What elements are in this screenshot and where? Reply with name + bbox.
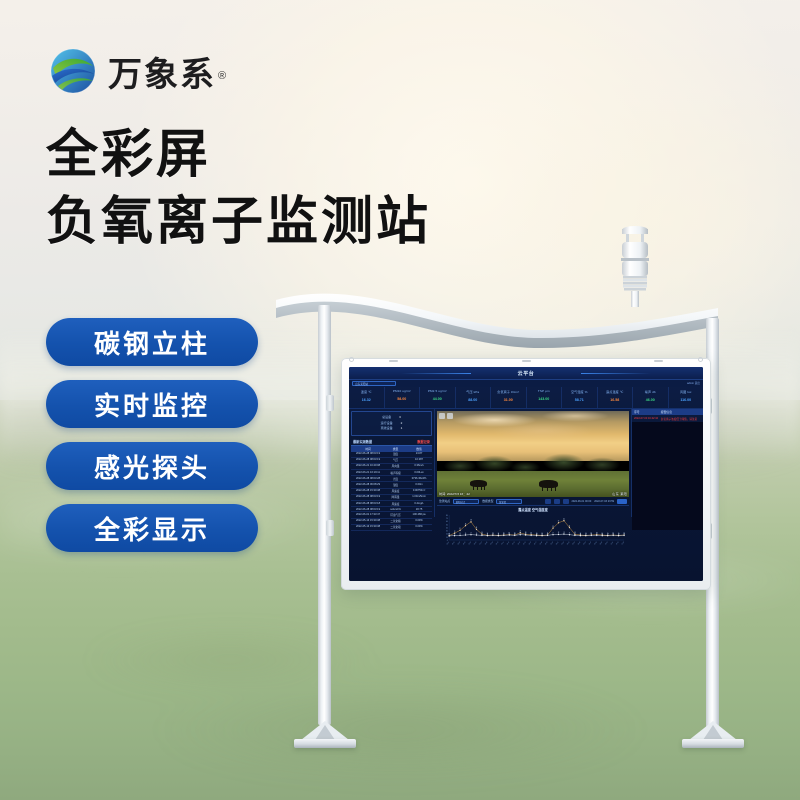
- table-cell: 0.36m/s: [406, 464, 432, 468]
- fullscreen-icon[interactable]: [439, 413, 445, 419]
- chart-view-toggle-2[interactable]: [554, 499, 560, 504]
- table-cell: 气压: [385, 458, 406, 462]
- right-base-plate: [682, 722, 744, 748]
- svg-text:14: 14: [580, 533, 581, 535]
- svg-text:06-09: 06-09: [490, 541, 493, 546]
- cow-figure-left: [470, 480, 487, 487]
- svg-text:07-02: 07-02: [616, 541, 619, 546]
- svg-text:06-30: 06-30: [605, 541, 608, 546]
- alarm-column-message: 报警信息: [661, 410, 701, 414]
- table-cell: 10.387: [406, 458, 432, 462]
- metric-value: 143.00: [527, 397, 562, 401]
- metric-label: 负氧离子 #/cm³: [491, 389, 526, 394]
- table-cell: 2022-06-28 08:03:19: [351, 452, 385, 456]
- metric-value: 58.00: [385, 397, 420, 401]
- svg-text:17: 17: [470, 532, 471, 534]
- table-cell: 18.75: [406, 508, 432, 511]
- metric-value: 58.71: [562, 398, 597, 402]
- svg-text:38: 38: [552, 526, 553, 528]
- metric-value: 44.00: [420, 397, 455, 401]
- svg-text:20: 20: [446, 534, 448, 536]
- table-cell: 0.00Lux: [406, 471, 432, 475]
- table-cell: 二氧化硫: [385, 525, 406, 529]
- svg-text:18: 18: [558, 532, 559, 534]
- metric-pm25: PM2.5 ug/m³ 44.00: [420, 387, 456, 408]
- metric-label: 温度 ℃: [349, 389, 384, 394]
- metric-pm10: PM10 ug/m³ 58.00: [385, 387, 421, 408]
- table-row[interactable]: 2022-05-13 15:30:38二氧化硫0.00%: [351, 525, 432, 531]
- svg-text:62: 62: [563, 518, 564, 520]
- table-cell: 2022-06-28 08:03:19: [351, 495, 385, 499]
- svg-text:06-02: 06-02: [452, 541, 455, 546]
- chart-date-from[interactable]: 2022-06-01 00:00: [572, 500, 592, 503]
- table-cell: 湿度: [385, 483, 406, 487]
- svg-text:06-24: 06-24: [572, 541, 575, 546]
- table-cell: 光度: [385, 477, 406, 481]
- metric-label: 风图 lux: [669, 389, 704, 394]
- chart-filter-bar: 监测站点 莱阳站点 数据类型 温湿度 2022-06-01 00:00 2022…: [437, 497, 629, 506]
- svg-text:06-05: 06-05: [468, 541, 471, 546]
- table-cell: 2022-05-13 15:30:38: [351, 519, 385, 523]
- table-cell: 0736.36e3%: [406, 477, 432, 481]
- table-cell: 2022-06-21 16:40:08: [351, 464, 385, 468]
- cow-figure-right: [539, 480, 558, 488]
- svg-text:06-10: 06-10: [496, 541, 499, 546]
- svg-text:70: 70: [446, 518, 448, 520]
- metric-label: PM2.5 ug/m³: [420, 389, 455, 393]
- cabinet-vent-center: [522, 360, 531, 362]
- table-cell: 温度: [385, 452, 406, 456]
- chart-submit-button[interactable]: [617, 499, 627, 504]
- table-cell: 0.4mg/L: [406, 502, 432, 506]
- svg-text:17: 17: [552, 532, 553, 534]
- svg-text:06-19: 06-19: [545, 541, 548, 546]
- metric-label: 噪声 db: [633, 389, 668, 394]
- dashboard-left-panel: 总设备 3 运行设备 2 离线设备 1: [349, 409, 435, 517]
- dashboard-header: 云平台: [349, 367, 703, 380]
- svg-text:30: 30: [446, 530, 448, 532]
- svg-text:15: 15: [514, 533, 515, 535]
- metric-label: TSP μm: [527, 389, 562, 393]
- stat-label: 离线设备: [381, 426, 393, 432]
- table-cell: 2022-06-21 16:19:11: [351, 471, 385, 475]
- svg-text:15: 15: [481, 533, 482, 535]
- svg-text:0: 0: [447, 540, 448, 542]
- table-cell: 噪声等级: [385, 471, 406, 475]
- metric-noise: 噪声 db 46.00: [633, 387, 669, 408]
- table-cell: 2022-06-01 17:33:47: [351, 513, 385, 517]
- table-cell: 0.00%: [406, 525, 432, 529]
- svg-text:16: 16: [509, 533, 510, 535]
- table-cell: solun/s%: [385, 508, 406, 511]
- chart-filter-label-2: 数据类型: [482, 499, 493, 503]
- table-action-link[interactable]: 数据记录: [417, 439, 430, 444]
- left-base-plate: [294, 722, 356, 748]
- svg-text:17: 17: [520, 532, 521, 534]
- table-cell: 100.286 pa: [406, 513, 432, 517]
- svg-text:06-20: 06-20: [550, 541, 553, 546]
- cloud-platform-dashboard: 云平台 山东莱阳站 admin 退出 温度 ℃ 16.32: [349, 367, 703, 581]
- data-table-body: 2022-06-28 08:03:19温度13.872022-06-28 08:…: [351, 452, 432, 531]
- alarm-empty-area: [632, 422, 703, 530]
- svg-text:40: 40: [569, 525, 570, 527]
- svg-text:14: 14: [536, 533, 537, 535]
- svg-text:15: 15: [591, 533, 592, 535]
- svg-text:17: 17: [569, 532, 570, 534]
- lcd-screen: 云平台 山东莱阳站 admin 退出 温度 ℃ 16.32: [349, 367, 703, 581]
- svg-text:13: 13: [448, 534, 449, 536]
- user-menu[interactable]: admin 退出: [687, 381, 700, 385]
- svg-text:16: 16: [465, 533, 466, 535]
- svg-text:15: 15: [547, 533, 548, 535]
- device-stats-box: 总设备 3 运行设备 2 离线设备 1: [351, 411, 432, 436]
- svg-text:31: 31: [459, 528, 460, 530]
- svg-text:14: 14: [487, 533, 488, 535]
- chart-station-select[interactable]: 莱阳站点: [453, 499, 479, 504]
- cabinet-hole-right: [698, 357, 703, 362]
- svg-text:06-14: 06-14: [517, 541, 520, 546]
- svg-text:10: 10: [446, 537, 448, 539]
- table-cell: 2022-06-28 08:03:19: [351, 508, 385, 511]
- table-cell: 2022-05-13 15:30:38: [351, 525, 385, 529]
- svg-text:06-06: 06-06: [474, 541, 477, 546]
- chart-date-to[interactable]: 2022-07-03 23:59: [594, 500, 614, 503]
- svg-text:06-07: 06-07: [479, 541, 482, 546]
- table-cell: 2022-06-28 08:03:18: [351, 502, 385, 506]
- svg-text:23: 23: [520, 530, 521, 532]
- table-cell: 二氧化碳: [385, 519, 406, 523]
- table-cell: 2022-06-28 06:08:29: [351, 483, 385, 487]
- table-cell: 0.00%: [406, 519, 432, 523]
- cabinet-vent-left: [389, 360, 398, 362]
- table-cell: 风向量: [385, 464, 406, 468]
- stat-value: 1: [401, 426, 403, 432]
- dashboard-body: 总设备 3 运行设备 2 离线设备 1: [349, 409, 703, 517]
- svg-text:06-08: 06-08: [485, 541, 488, 546]
- svg-text:06-04: 06-04: [463, 541, 466, 546]
- cabinet-hole-left: [349, 357, 354, 362]
- stat-offline-devices: 离线设备 1: [354, 426, 429, 432]
- metric-dew-point: 露点温度 ℃ 16.58: [598, 387, 634, 408]
- alarm-time: 2022-07-03 16:42:10: [634, 417, 661, 421]
- chart-view-toggle-3[interactable]: [563, 499, 569, 504]
- svg-text:80: 80: [446, 515, 448, 517]
- metric-label: 气压 kPa: [456, 389, 491, 394]
- svg-text:15: 15: [623, 533, 624, 535]
- svg-text:06-26: 06-26: [583, 541, 586, 546]
- column-value: 数值: [406, 447, 432, 451]
- table-title: 最新实测数据: [353, 439, 372, 444]
- svg-text:40: 40: [446, 527, 448, 529]
- monitoring-station: 云平台 山东莱阳站 admin 退出 温度 ℃ 16.32: [0, 0, 800, 800]
- metric-tsp: TSP μm 143.00: [527, 387, 563, 408]
- dashboard-subbar: 山东莱阳站 admin 退出: [349, 380, 703, 387]
- alarm-column-index: 序号: [634, 410, 661, 414]
- metric-value: 116.00: [669, 398, 704, 402]
- dashboard-center-panel: 时间: 2022/7/3 16：42 山东 莱阳 监测站点 莱阳站点 数据类型 …: [435, 409, 631, 517]
- dashboard-right-panel: 序号 报警信息 2022-07-03 16:42:10 负氧离子浓度低于阈值，请…: [631, 409, 703, 517]
- svg-text:06-03: 06-03: [457, 541, 460, 546]
- metric-value: 16.58: [598, 398, 633, 402]
- table-cell: 2022-06-28 08:03:19: [351, 458, 385, 462]
- svg-text:55: 55: [558, 520, 559, 522]
- svg-text:15: 15: [531, 533, 532, 535]
- column-type: 类型: [385, 447, 406, 451]
- metric-humidity: 空气湿度 % 58.71: [562, 387, 598, 408]
- metric-label: PM10 ug/m³: [385, 389, 420, 393]
- metric-negative-oxygen-ion: 负氧离子 #/cm³ 31.00: [491, 387, 527, 408]
- alarm-row: 2022-07-03 16:42:10 负氧离子浓度低于阈值，请注意: [632, 415, 703, 422]
- table-cell: 2022-06-28 15:30:38: [351, 489, 385, 493]
- left-mount-bracket-upper: [326, 395, 334, 411]
- table-cell: 1.00m/5min: [406, 495, 432, 499]
- svg-text:15: 15: [613, 533, 614, 535]
- svg-text:06-22: 06-22: [561, 541, 564, 546]
- svg-text:34: 34: [476, 527, 477, 529]
- left-support-post: [318, 305, 331, 725]
- svg-text:46: 46: [465, 523, 466, 525]
- table-cell: 环境气压: [385, 513, 406, 517]
- metric-value: 16.32: [349, 398, 384, 402]
- alarm-message: 负氧离子浓度低于阈值，请注意: [661, 417, 701, 421]
- svg-text:06-13: 06-13: [512, 541, 515, 546]
- svg-text:06-29: 06-29: [600, 541, 603, 546]
- cabinet-vent-right: [654, 360, 663, 362]
- table-cell: 降雨量: [385, 495, 406, 499]
- svg-text:15: 15: [596, 533, 597, 535]
- chart-view-toggle-1[interactable]: [545, 499, 551, 504]
- column-time: 时间: [351, 447, 385, 451]
- trend-chart: 露点温度 空气湿度度 01020304050607080142231465834…: [437, 506, 629, 549]
- product-hero-image: 万象系® 全彩屏 负氧离子监测站 碳钢立柱 实时监控 感光探头 全彩显示: [0, 0, 800, 800]
- svg-text:14: 14: [607, 533, 608, 535]
- metrics-strip: 温度 ℃ 16.32 PM10 ug/m³ 58.00 PM2.5 ug/m³ …: [349, 387, 703, 409]
- svg-text:14: 14: [541, 533, 542, 535]
- video-controls[interactable]: [439, 413, 453, 419]
- svg-text:06-21: 06-21: [556, 541, 559, 546]
- metric-value: 46.00: [633, 398, 668, 402]
- svg-text:15: 15: [503, 533, 504, 535]
- svg-text:06-17: 06-17: [534, 541, 537, 546]
- snapshot-icon[interactable]: [447, 413, 453, 419]
- metric-temperature: 温度 ℃ 16.32: [349, 387, 385, 408]
- svg-text:06-18: 06-18: [539, 541, 542, 546]
- video-watermark: 山东 莱阳: [612, 491, 627, 496]
- svg-text:06-12: 06-12: [507, 541, 510, 546]
- station-select[interactable]: 山东莱阳站: [352, 381, 396, 386]
- svg-text:14: 14: [454, 533, 455, 535]
- svg-text:06-16: 06-16: [528, 541, 531, 546]
- metric-illuminance: 风图 lux 116.00: [669, 387, 704, 408]
- table-cell: 风速度: [385, 502, 406, 506]
- left-mount-bracket-lower: [326, 520, 334, 536]
- svg-text:16: 16: [476, 533, 477, 535]
- svg-text:58: 58: [470, 520, 471, 522]
- svg-text:06-23: 06-23: [567, 541, 570, 546]
- svg-text:22: 22: [454, 531, 455, 533]
- svg-text:60: 60: [446, 521, 448, 523]
- chart-filter-label-1: 监测站点: [439, 499, 450, 503]
- data-table-header: 最新实测数据 数据记录: [351, 439, 432, 446]
- svg-text:14: 14: [498, 533, 499, 535]
- svg-text:15: 15: [459, 533, 460, 535]
- svg-text:07-03: 07-03: [621, 541, 624, 546]
- table-cell: 0.00750m³: [406, 489, 432, 493]
- svg-text:14: 14: [585, 533, 586, 535]
- display-cabinet: 云平台 山东莱阳站 admin 退出 温度 ℃ 16.32: [341, 358, 711, 590]
- metric-pressure: 气压 kPa 88.00: [456, 387, 492, 408]
- svg-text:14: 14: [618, 533, 619, 535]
- table-cell: 0.00m: [406, 483, 432, 487]
- svg-text:06-28: 06-28: [594, 541, 597, 546]
- svg-text:50: 50: [446, 524, 448, 526]
- dashboard-title: 云平台: [349, 370, 703, 377]
- table-cell: 2022-06-28 08:03:28: [351, 477, 385, 481]
- svg-text:06-27: 06-27: [589, 541, 592, 546]
- svg-text:06-11: 06-11: [501, 541, 504, 546]
- svg-text:06-15: 06-15: [523, 541, 526, 546]
- metric-label: 空气湿度 %: [562, 389, 597, 394]
- svg-text:15: 15: [574, 533, 575, 535]
- svg-text:15: 15: [492, 533, 493, 535]
- live-camera-feed[interactable]: 时间: 2022/7/3 16：42 山东 莱阳: [437, 411, 629, 497]
- metric-label: 露点温度 ℃: [598, 389, 633, 394]
- chart-canvas: 0102030405060708014223146583419151615161…: [439, 512, 627, 548]
- svg-text:07-01: 07-01: [610, 541, 613, 546]
- metric-value: 88.00: [456, 398, 491, 402]
- table-cell: 风速度: [385, 489, 406, 493]
- chart-type-select[interactable]: 温湿度: [496, 499, 522, 504]
- svg-text:06-25: 06-25: [578, 541, 581, 546]
- svg-text:19: 19: [563, 532, 564, 534]
- weather-sensor-head-icon: [608, 222, 662, 308]
- svg-text:14: 14: [602, 533, 603, 535]
- video-timestamp: 时间: 2022/7/3 16：42: [439, 491, 470, 496]
- svg-text:16: 16: [525, 533, 526, 535]
- table-cell: 13.87: [406, 452, 432, 456]
- metric-value: 31.00: [491, 398, 526, 402]
